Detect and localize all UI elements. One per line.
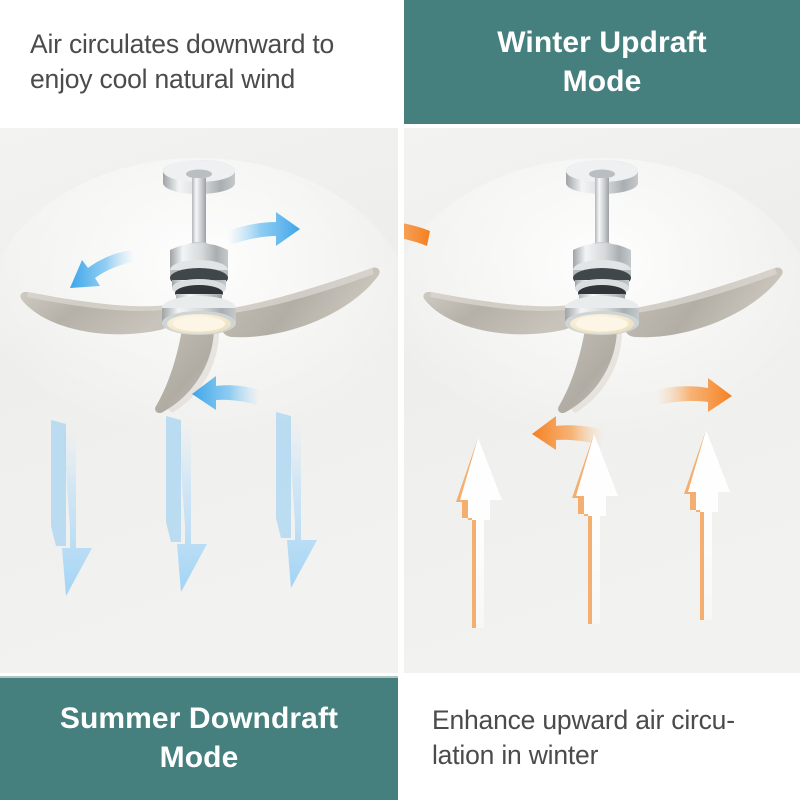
- fan-light-kit: [162, 296, 236, 335]
- right-top-banner-text: Winter Updraft Mode: [497, 23, 706, 101]
- banner-seam: [0, 676, 398, 678]
- left-fan-photo: [0, 128, 398, 673]
- summer-fan-illustration: [0, 128, 398, 673]
- right-top-banner: Winter Updraft Mode: [404, 0, 800, 124]
- left-top-caption: Air circulates downward to enjoy cool na…: [0, 0, 398, 124]
- infographic-page: Air circulates downward to enjoy cool na…: [0, 0, 800, 800]
- fan-light-kit: [565, 296, 639, 335]
- right-bottom-caption-text: Enhance upward air circu- lation in wint…: [432, 703, 735, 773]
- fan-downrod: [595, 178, 609, 246]
- left-bottom-banner-text: Summer Downdraft Mode: [60, 699, 338, 777]
- left-top-caption-text: Air circulates downward to enjoy cool na…: [30, 27, 334, 97]
- fan-downrod: [192, 178, 206, 246]
- right-fan-photo: [404, 128, 800, 673]
- right-bottom-caption: Enhance upward air circu- lation in wint…: [404, 676, 800, 800]
- left-bottom-banner: Summer Downdraft Mode: [0, 676, 398, 800]
- winter-fan-illustration: [404, 128, 800, 673]
